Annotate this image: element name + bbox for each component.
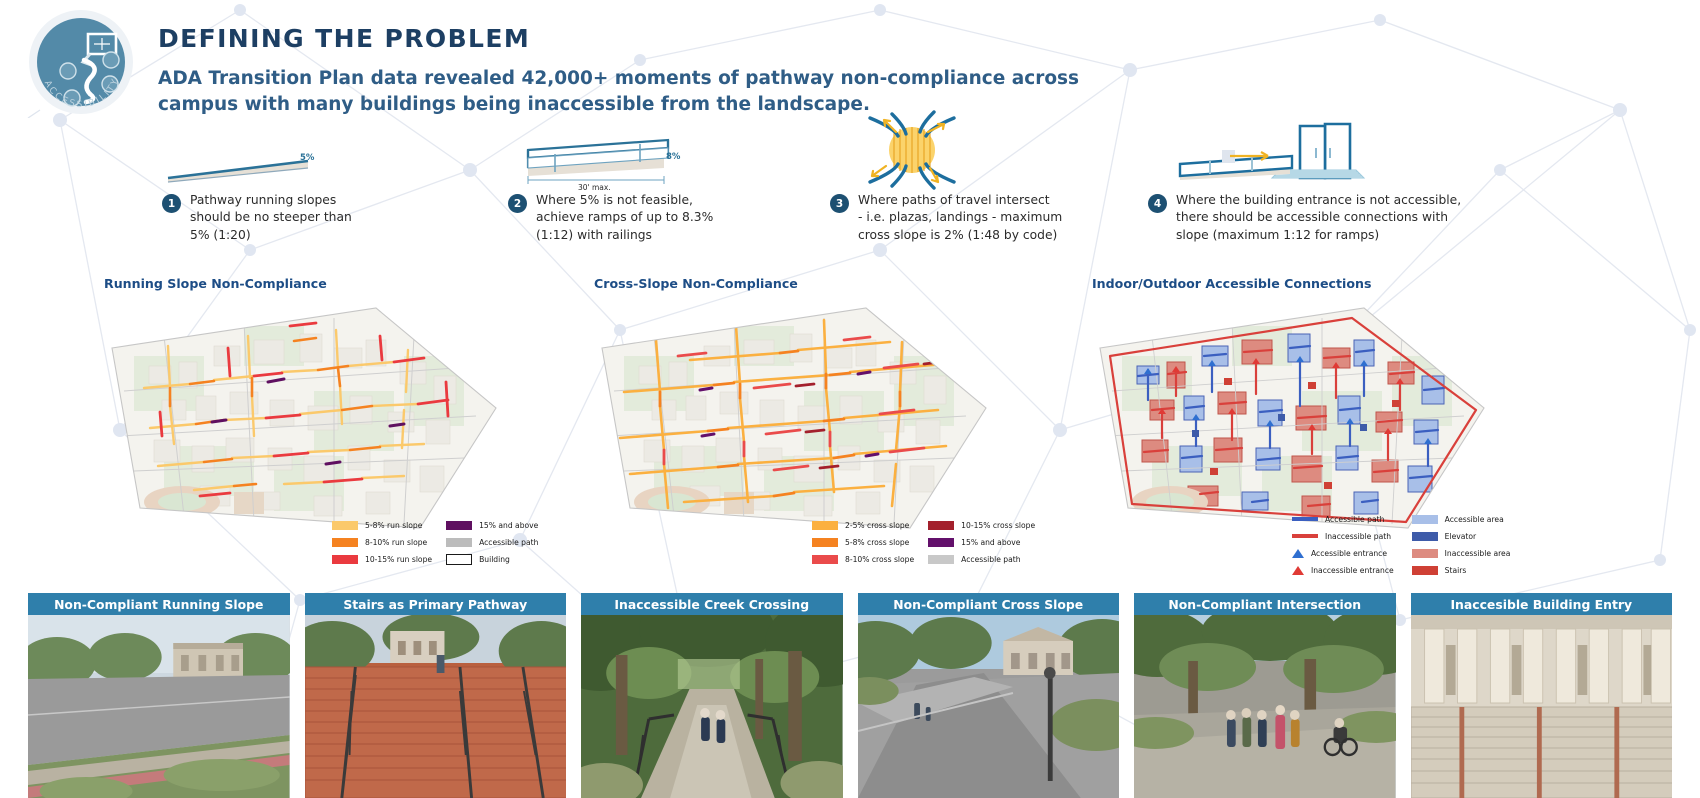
legend-item: Accessible path [1292,513,1394,525]
legend-label: Inaccessible path [1325,532,1391,541]
legend-item: 10-15% cross slope [928,519,1035,531]
page-subtitle: ADA Transition Plan data revealed 42,000… [158,66,1118,119]
legend-item: 2-5% cross slope [812,519,914,531]
legend-label: Accessible path [1325,515,1384,524]
legend-column-2: 10-15% cross slope 15% and above Accessi… [928,519,1035,565]
legend-label: Accessible path [961,555,1020,564]
photo-card-running-slope[interactable]: Non-Compliant Running Slope [28,593,290,798]
callout-2-figure-label-length: 30' max. [578,183,611,192]
legend-item: Accessible path [928,553,1035,565]
campus-map-cross-slope[interactable] [594,296,994,536]
swatch-inaccessible-path [1292,534,1318,538]
photo-caption: Non-Compliant Cross Slope [858,593,1120,615]
swatch-stairs [1412,566,1438,575]
legend-column-1: 2-5% cross slope 5-8% cross slope 8-10% … [812,519,914,565]
swatch-2-5-cross-slope [812,521,838,530]
swatch-building [446,554,472,565]
legend-item: 15% and above [928,536,1035,548]
swatch-accessible-path [928,555,954,564]
swatch-elevator [1412,532,1438,541]
map-title-indoor-outdoor: Indoor/Outdoor Accessible Connections [1092,276,1492,291]
photo-caption: Stairs as Primary Pathway [305,593,567,615]
callout-3-text: Where paths of travel intersect - i.e. p… [858,192,1062,244]
legend-label: Inaccessible entrance [1311,566,1394,575]
legend-label: Accessible path [479,538,538,547]
swatch-15-and-above [446,521,472,530]
callout-4-text: Where the building entrance is not acces… [1176,192,1461,244]
swatch-10-15-run-slope [332,555,358,564]
callout-2-text-row: 2 Where 5% is not feasible, achieve ramp… [508,192,713,244]
callout-1-figure-label: 5% [300,153,314,163]
swatch-accessible-path [446,538,472,547]
callout-4-text-row: 4 Where the building entrance is not acc… [1148,192,1461,244]
legend-running-slope: 5-8% run slope 8-10% run slope 10-15% ru… [332,519,538,565]
callout-1: 5% 1 Pathway running slopes should be no… [150,140,480,200]
legend-label: 10-15% cross slope [961,521,1035,530]
photo-caption: Inaccessible Creek Crossing [581,593,843,615]
photo-strip: Non-Compliant Running Slope Stairs as Pr… [0,593,1700,798]
legend-item: Building [446,553,538,565]
legend-label: 5-8% cross slope [845,538,909,547]
infographic-page: ACCESSIBILITY DEFINING THE PROBLEM ADA T… [0,0,1700,798]
legend-item: Inaccessible area [1412,547,1511,559]
callout-3-text-row: 3 Where paths of travel intersect - i.e.… [830,192,1062,244]
legend-item: Inaccessible entrance [1292,564,1394,576]
swatch-8-10-cross-slope [812,555,838,564]
legend-label: 15% and above [961,538,1020,547]
map-panel-indoor-outdoor: Indoor/Outdoor Accessible Connections [1092,276,1492,541]
callout-4-number: 4 [1148,194,1167,213]
legend-column-1: 5-8% run slope 8-10% run slope 10-15% ru… [332,519,432,565]
legend-item: 8-10% run slope [332,536,432,548]
swatch-accessible-entrance [1292,549,1304,558]
campus-map-running-slope[interactable] [104,296,504,536]
legend-label: Accessible entrance [1311,549,1387,558]
callout-1-text-row: 1 Pathway running slopes should be no st… [162,192,352,244]
ramp-slope-5-percent-icon [150,140,350,195]
map-title-running-slope: Running Slope Non-Compliance [104,276,504,291]
legend-item: Inaccessible path [1292,530,1394,542]
legend-label: Accessible area [1445,515,1504,524]
swatch-10-15-cross-slope [928,521,954,530]
photo-card-stairs[interactable]: Stairs as Primary Pathway [305,593,567,798]
legend-column-1: Accessible path Inaccessible path Access… [1292,513,1394,576]
legend-label: 5-8% run slope [365,521,422,530]
road-and-lawn-photo [28,615,290,798]
photo-card-building-entry[interactable]: Inaccesible Building Entry [1411,593,1673,798]
accessibility-path-badge-icon: ACCESSIBILITY [22,8,140,118]
legend-item: 10-15% run slope [332,553,432,565]
building-steps-photo [1411,615,1673,798]
legend-label: 15% and above [479,521,538,530]
legend-item: Accessible entrance [1292,547,1394,559]
map-panel-running-slope: Running Slope Non-Compliance [104,276,504,541]
callout-3-number: 3 [830,194,849,213]
legend-label: 8-10% cross slope [845,555,914,564]
legend-label: Elevator [1445,532,1476,541]
swatch-accessible-area [1412,515,1438,524]
legend-item: Elevator [1412,530,1511,542]
legend-column-2: Accessible area Elevator Inaccessible ar… [1412,513,1511,576]
wooded-creek-path-photo [581,615,843,798]
legend-label: 2-5% cross slope [845,521,909,530]
legend-item: 5-8% cross slope [812,536,914,548]
legend-label: Building [479,555,510,564]
legend-label: Inaccessible area [1445,549,1511,558]
callout-1-number: 1 [162,194,181,213]
photo-card-intersection[interactable]: Non-Compliant Intersection [1134,593,1396,798]
header: ACCESSIBILITY DEFINING THE PROBLEM ADA T… [0,0,1700,125]
campus-road-photo [858,615,1120,798]
brick-stairs-photo [305,615,567,798]
legend-item: 8-10% cross slope [812,553,914,565]
callout-2-figure-label-slope: 8% [666,152,680,162]
photo-card-cross-slope[interactable]: Non-Compliant Cross Slope [858,593,1120,798]
swatch-accessible-path [1292,517,1318,521]
callout-2-number: 2 [508,194,527,213]
callout-2-text: Where 5% is not feasible, achieve ramps … [536,192,713,244]
legend-column-2: 15% and above Accessible path Building [446,519,538,565]
swatch-inaccessible-area [1412,549,1438,558]
page-title: DEFINING THE PROBLEM [158,24,1118,53]
swatch-5-8-run-slope [332,521,358,530]
legend-indoor-outdoor: Accessible path Inaccessible path Access… [1292,513,1510,576]
legend-item: 5-8% run slope [332,519,432,531]
map-panel-cross-slope: Cross-Slope Non-Compliance [594,276,994,541]
legend-cross-slope: 2-5% cross slope 5-8% cross slope 8-10% … [812,519,1035,565]
swatch-5-8-cross-slope [812,538,838,547]
photo-caption: Inaccesible Building Entry [1411,593,1673,615]
swatch-inaccessible-entrance [1292,566,1304,575]
legend-label: 10-15% run slope [365,555,432,564]
legend-label: Stairs [1445,566,1467,575]
map-title-cross-slope: Cross-Slope Non-Compliance [594,276,994,291]
photo-card-creek[interactable]: Inaccessible Creek Crossing [581,593,843,798]
legend-label: 8-10% run slope [365,538,427,547]
title-block: DEFINING THE PROBLEM ADA Transition Plan… [158,24,1118,119]
legend-item: 15% and above [446,519,538,531]
swatch-8-10-run-slope [332,538,358,547]
campus-map-indoor-outdoor[interactable] [1092,296,1492,536]
legend-item: Stairs [1412,564,1511,576]
photo-caption: Non-Compliant Running Slope [28,593,290,615]
photo-caption: Non-Compliant Intersection [1134,593,1396,615]
legend-item: Accessible area [1412,513,1511,525]
callout-2: 8% 30' max. 2 Where 5% is not feasible, … [500,128,840,205]
callout-1-text: Pathway running slopes should be no stee… [190,192,352,244]
legend-item: Accessible path [446,536,538,548]
swatch-15-and-above [928,538,954,547]
people-on-path-photo [1134,615,1396,798]
